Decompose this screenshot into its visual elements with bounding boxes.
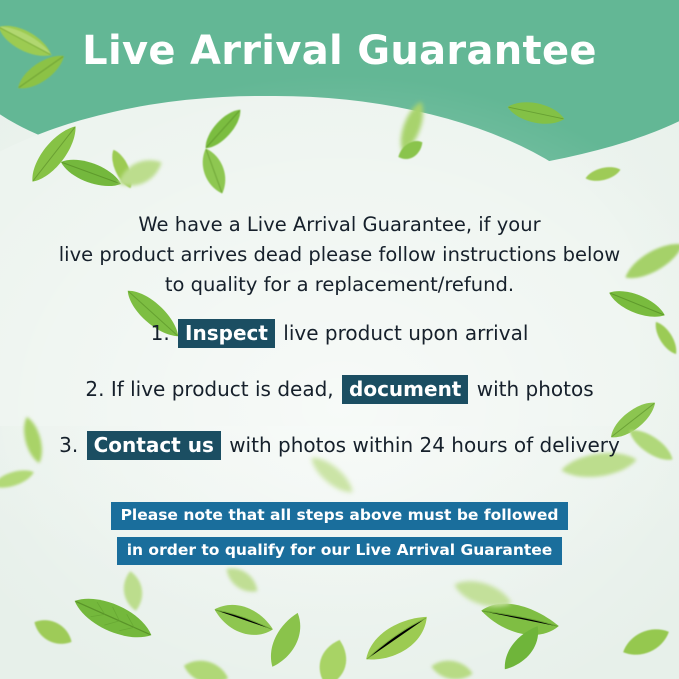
intro-line-3: to quality for a replacement/refund.: [0, 270, 679, 300]
step-text-after: live product upon arrival: [283, 321, 528, 345]
step-highlight-inspect: Inspect: [178, 319, 275, 348]
footer-note-group: Please note that all steps above must be…: [0, 502, 679, 565]
step-highlight-contact-us: Contact us: [87, 431, 221, 460]
step-item-1: 1. Inspect live product upon arrival: [0, 318, 679, 348]
step-text-after: with photos within 24 hours of delivery: [229, 433, 620, 457]
step-number: 2.: [85, 377, 104, 401]
intro-line-2: live product arrives dead please follow …: [0, 240, 679, 270]
footer-note-line-1: Please note that all steps above must be…: [111, 502, 569, 530]
step-number: 3.: [59, 433, 78, 457]
step-item-2: 2. If live product is dead, document wit…: [0, 374, 679, 404]
intro-paragraph: We have a Live Arrival Guarantee, if you…: [0, 210, 679, 300]
step-text-after: with photos: [477, 377, 594, 401]
steps-list: 1. Inspect live product upon arrival 2. …: [0, 318, 679, 486]
live-arrival-guarantee-poster: Live Arrival Guarantee: [0, 0, 679, 679]
step-highlight-document: document: [342, 375, 468, 404]
step-text-before: If live product is dead,: [111, 377, 334, 401]
step-item-3: 3. Contact us with photos within 24 hour…: [0, 430, 679, 460]
step-number: 1.: [151, 321, 170, 345]
intro-line-1: We have a Live Arrival Guarantee, if you…: [0, 210, 679, 240]
page-title: Live Arrival Guarantee: [0, 28, 679, 74]
footer-note-line-2: in order to qualify for our Live Arrival…: [117, 537, 563, 565]
